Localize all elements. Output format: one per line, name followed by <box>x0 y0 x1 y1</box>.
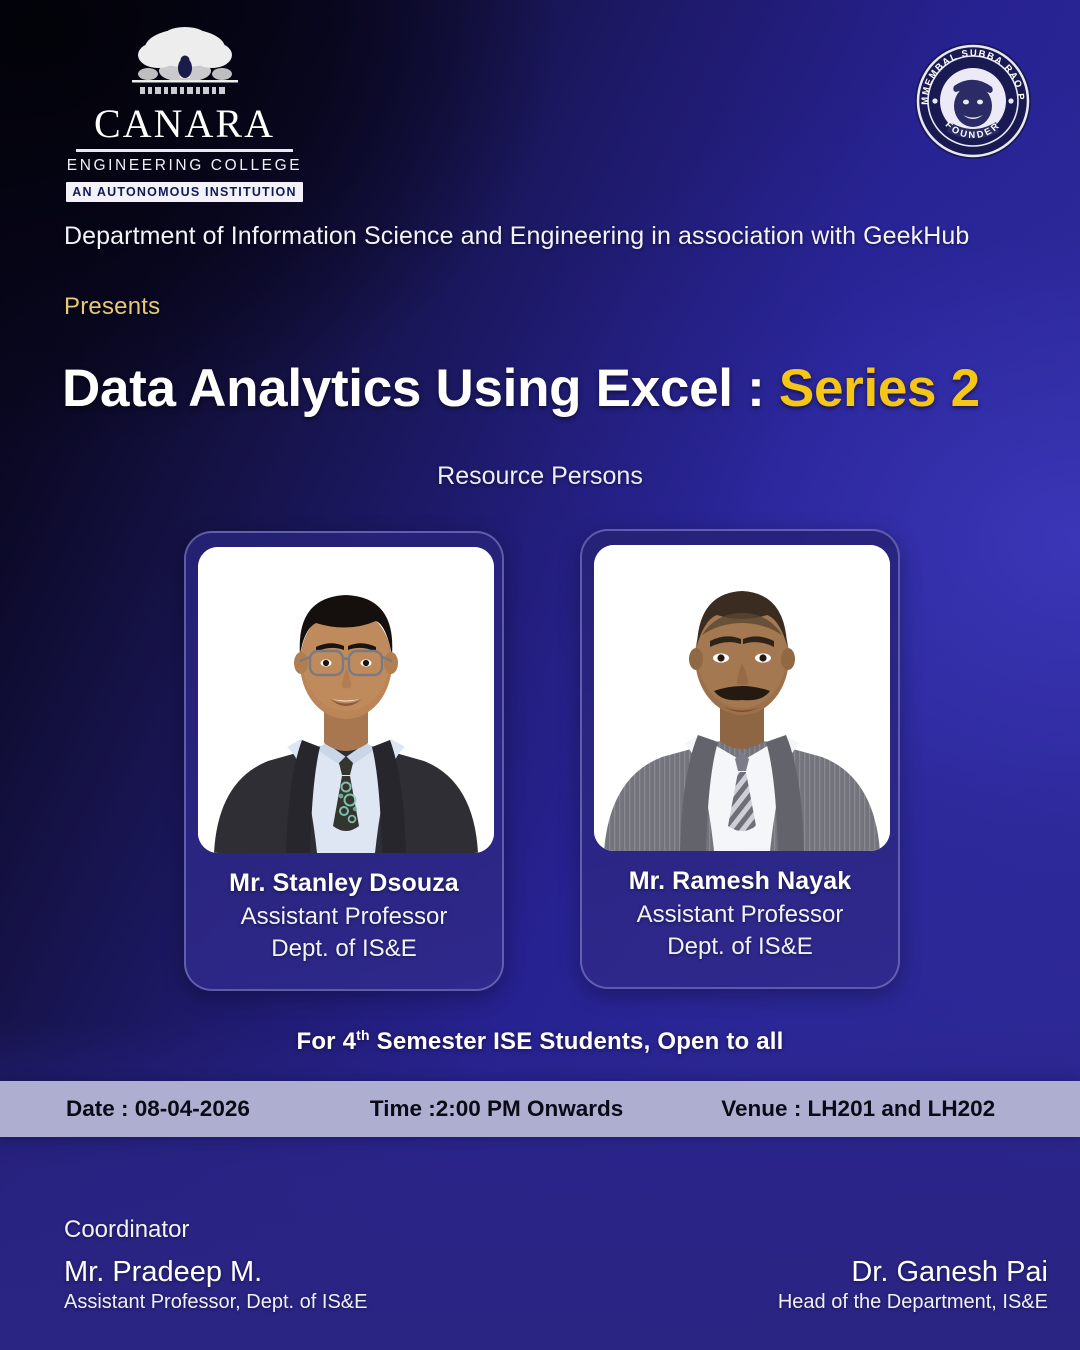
audience-prefix: For 4 <box>296 1028 356 1055</box>
audience-ordinal: th <box>356 1027 370 1043</box>
coordinator-name: Mr. Pradeep M. <box>64 1256 367 1289</box>
event-date: Date : 08-04-2026 <box>66 1096 250 1122</box>
resource-persons-list: Mr. Stanley Dsouza Assistant Professor D… <box>0 531 1080 1001</box>
college-tagline: AN AUTONOMOUS INSTITUTION <box>66 182 302 202</box>
speaker-photo <box>594 545 890 851</box>
speaker-name: Mr. Ramesh Nayak <box>594 867 886 896</box>
title-main-text: Data Analytics Using Excel : <box>62 359 764 418</box>
coordinator-role: Assistant Professor, Dept. of IS&E <box>64 1291 367 1314</box>
audience-note: For 4th Semester ISE Students, Open to a… <box>0 1027 1080 1056</box>
event-venue: Venue : LH201 and LH202 <box>721 1096 995 1122</box>
logo-divider <box>76 149 293 152</box>
college-crest-icon <box>126 24 244 102</box>
founder-portrait-icon: AMMEMBAL SUBBA RAO PAI FOUNDER <box>914 42 1032 160</box>
hod-role: Head of the Department, IS&E <box>778 1291 1048 1314</box>
college-logo: CANARA ENGINEERING COLLEGE AN AUTONOMOUS… <box>62 24 307 202</box>
hod-block: Dr. Ganesh Pai Head of the Department, I… <box>778 1256 1048 1314</box>
event-info-bar: Date : 08-04-2026 Time :2:00 PM Onwards … <box>0 1081 1080 1137</box>
poster-header: CANARA ENGINEERING COLLEGE AN AUTONOMOUS… <box>0 0 1080 190</box>
speaker-photo <box>198 547 494 853</box>
page-title: Data Analytics Using Excel : Series 2 <box>62 358 980 419</box>
presents-label: Presents <box>64 293 160 321</box>
speaker-portrait-icon <box>198 547 494 853</box>
speaker-department: Dept. of IS&E <box>198 933 490 965</box>
speaker-department: Dept. of IS&E <box>594 931 886 963</box>
speaker-role: Assistant Professor <box>594 899 886 931</box>
department-line: Department of Information Science and En… <box>64 222 969 251</box>
speaker-name: Mr. Stanley Dsouza <box>198 869 490 898</box>
title-highlight-text: Series 2 <box>779 359 980 418</box>
resource-persons-label: Resource Persons <box>0 462 1080 491</box>
poster-footer: Coordinator Mr. Pradeep M. Assistant Pro… <box>0 1150 1080 1350</box>
coordinator-label: Coordinator <box>64 1216 367 1244</box>
speaker-card: Mr. Stanley Dsouza Assistant Professor D… <box>184 531 504 991</box>
college-subtitle: ENGINEERING COLLEGE <box>62 157 307 175</box>
coordinator-block: Coordinator Mr. Pradeep M. Assistant Pro… <box>64 1216 367 1314</box>
speaker-role: Assistant Professor <box>198 901 490 933</box>
college-name: CANARA <box>62 104 307 144</box>
event-poster: CANARA ENGINEERING COLLEGE AN AUTONOMOUS… <box>0 0 1080 1350</box>
speaker-card: Mr. Ramesh Nayak Assistant Professor Dep… <box>580 529 900 989</box>
event-time: Time :2:00 PM Onwards <box>370 1096 623 1122</box>
hod-name: Dr. Ganesh Pai <box>778 1256 1048 1289</box>
audience-suffix: Semester ISE Students, Open to all <box>370 1028 784 1055</box>
speaker-portrait-icon <box>594 545 890 851</box>
